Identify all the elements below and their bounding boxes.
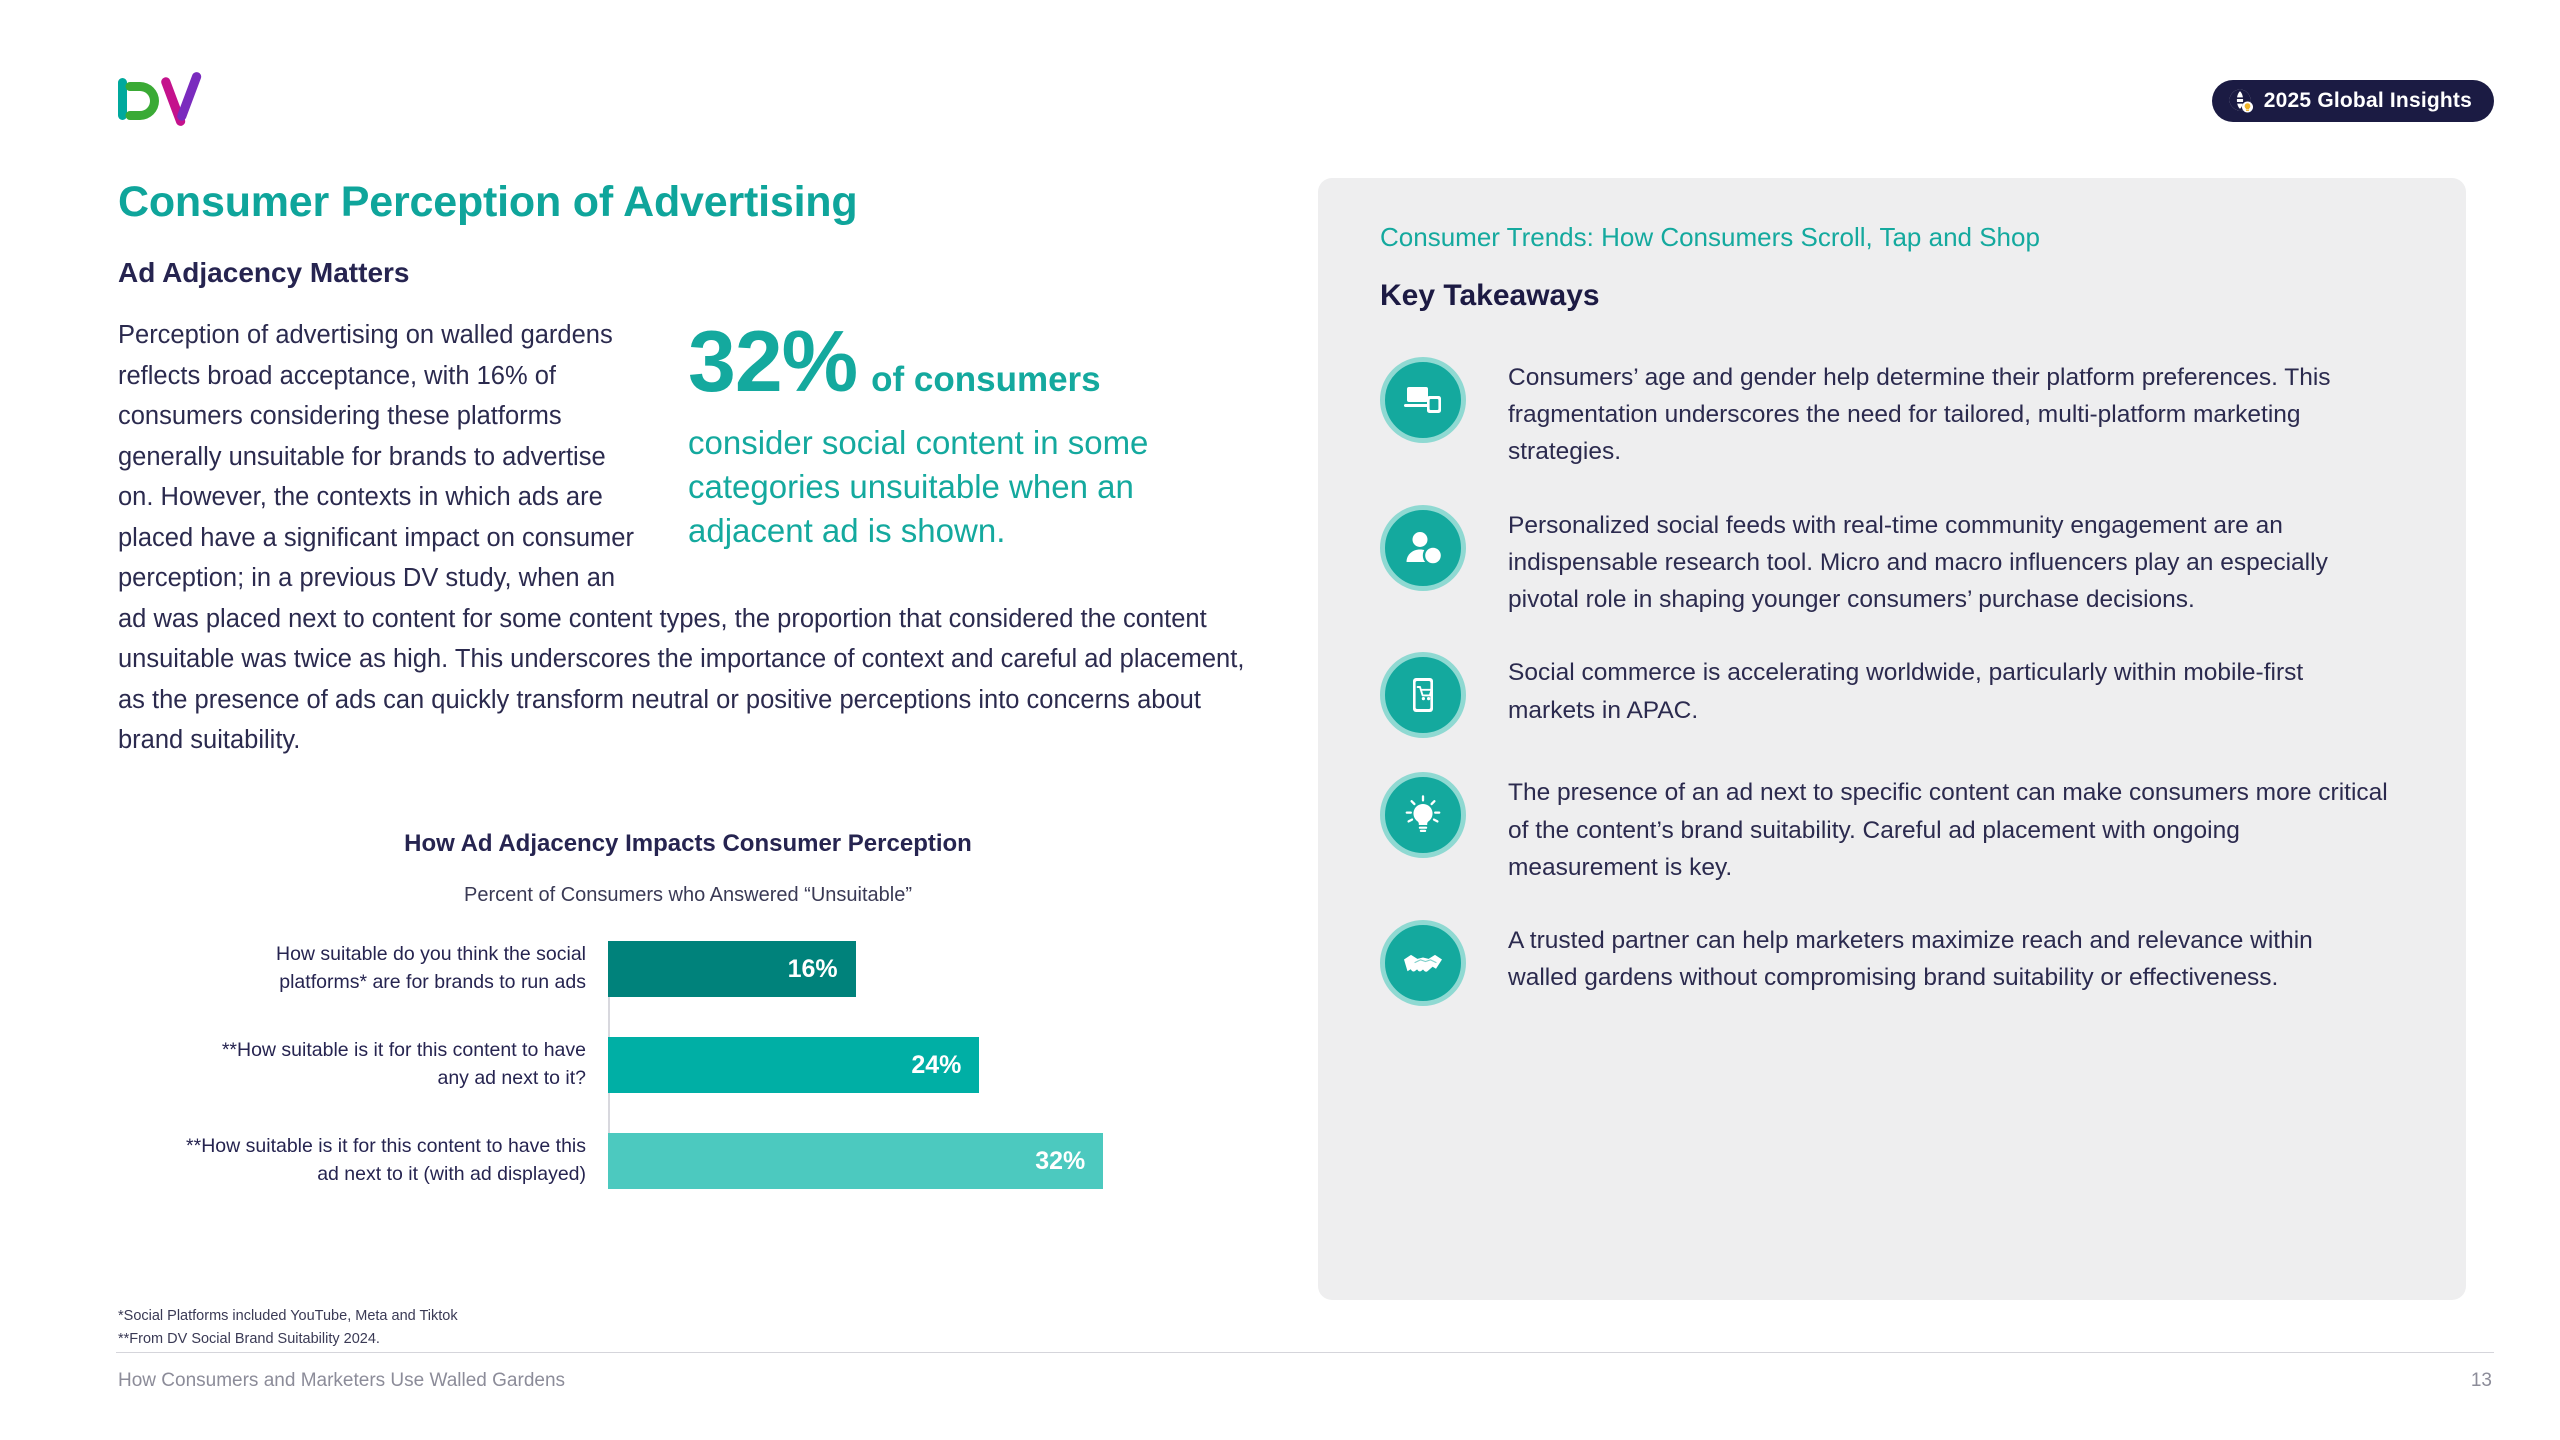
footnotes: *Social Platforms included YouTube, Meta…: [118, 1305, 458, 1352]
page-number: 13: [2471, 1370, 2492, 1392]
footer-title: How Consumers and Marketers Use Walled G…: [118, 1370, 565, 1392]
chart-bar-row: How suitable do you think the social pla…: [608, 941, 1258, 997]
chart-title: How Ad Adjacency Impacts Consumer Percep…: [118, 830, 1258, 858]
user-star-icon-glyph: [1401, 526, 1445, 570]
handshake-icon-glyph: [1401, 941, 1445, 985]
globe-icon: [2228, 88, 2254, 114]
chart-bar-row: **How suitable is it for this content to…: [608, 1133, 1258, 1189]
dv-logo-icon: [116, 72, 220, 126]
body-wrap: 32%of consumers consider social content …: [118, 315, 1248, 761]
bar-chart: How Ad Adjacency Impacts Consumer Percep…: [118, 830, 1258, 1189]
stat-suffix: of consumers: [871, 360, 1101, 399]
takeaway-text: The presence of an ad next to specific c…: [1508, 770, 2388, 886]
lightbulb-icon-glyph: [1401, 793, 1445, 837]
footnote-1: *Social Platforms included YouTube, Meta…: [118, 1305, 458, 1328]
key-takeaways-panel: Consumer Trends: How Consumers Scroll, T…: [1318, 178, 2466, 1300]
stat-number: 32%: [688, 314, 857, 410]
chart-category-label: How suitable do you think the social pla…: [186, 941, 586, 996]
chart-bar: 32%: [608, 1133, 1103, 1189]
dv-logo: [116, 72, 220, 126]
badge-label: 2025 Global Insights: [2264, 89, 2472, 113]
chart-bar-value: 24%: [911, 1051, 961, 1080]
handshake-icon: [1380, 920, 1466, 1006]
takeaway-item: The presence of an ad next to specific c…: [1380, 770, 2408, 886]
takeaway-item: Social commerce is accelerating worldwid…: [1380, 650, 2408, 738]
footnote-2: **From DV Social Brand Suitability 2024.: [118, 1328, 458, 1351]
takeaway-item: A trusted partner can help marketers max…: [1380, 918, 2408, 1006]
takeaway-item: Personalized social feeds with real-time…: [1380, 503, 2408, 619]
takeaway-item: Consumers’ age and gender help determine…: [1380, 355, 2408, 471]
devices-icon-glyph: [1401, 378, 1445, 422]
panel-eyebrow: Consumer Trends: How Consumers Scroll, T…: [1380, 222, 2408, 253]
takeaway-text: Personalized social feeds with real-time…: [1508, 503, 2388, 619]
stat-headline: 32%of consumers: [688, 319, 1248, 405]
takeaway-text: Consumers’ age and gender help determine…: [1508, 355, 2388, 471]
lightbulb-icon: [1380, 772, 1466, 858]
chart-bar-row: **How suitable is it for this content to…: [608, 1037, 1258, 1093]
takeaway-text: A trusted partner can help marketers max…: [1508, 918, 2388, 996]
devices-icon: [1380, 357, 1466, 443]
chart-subtitle: Percent of Consumers who Answered “Unsui…: [118, 884, 1258, 907]
chart-bar-value: 16%: [788, 955, 838, 984]
user-star-icon: [1380, 505, 1466, 591]
takeaway-list: Consumers’ age and gender help determine…: [1380, 355, 2408, 1006]
chart-plot-area: How suitable do you think the social pla…: [118, 941, 1258, 1189]
page-title: Consumer Perception of Advertising: [118, 178, 1298, 227]
chart-bar: 24%: [608, 1037, 979, 1093]
mobile-cart-icon-glyph: [1401, 673, 1445, 717]
global-insights-badge[interactable]: 2025 Global Insights: [2212, 80, 2494, 122]
mobile-cart-icon: [1380, 652, 1466, 738]
slide: 2025 Global Insights Consumer Perception…: [0, 0, 2560, 1440]
stat-callout: 32%of consumers consider social content …: [688, 319, 1248, 553]
chart-category-label: **How suitable is it for this content to…: [186, 1037, 586, 1092]
section-subtitle: Ad Adjacency Matters: [118, 257, 1298, 289]
footer-divider: [116, 1352, 2494, 1353]
stat-description: consider social content in some categori…: [688, 421, 1248, 553]
panel-title: Key Takeaways: [1380, 279, 2408, 313]
chart-bar: 16%: [608, 941, 856, 997]
chart-category-label: **How suitable is it for this content to…: [186, 1133, 586, 1188]
left-column: Consumer Perception of Advertising Ad Ad…: [118, 178, 1298, 761]
takeaway-text: Social commerce is accelerating worldwid…: [1508, 650, 2388, 728]
chart-bar-value: 32%: [1035, 1147, 1085, 1176]
